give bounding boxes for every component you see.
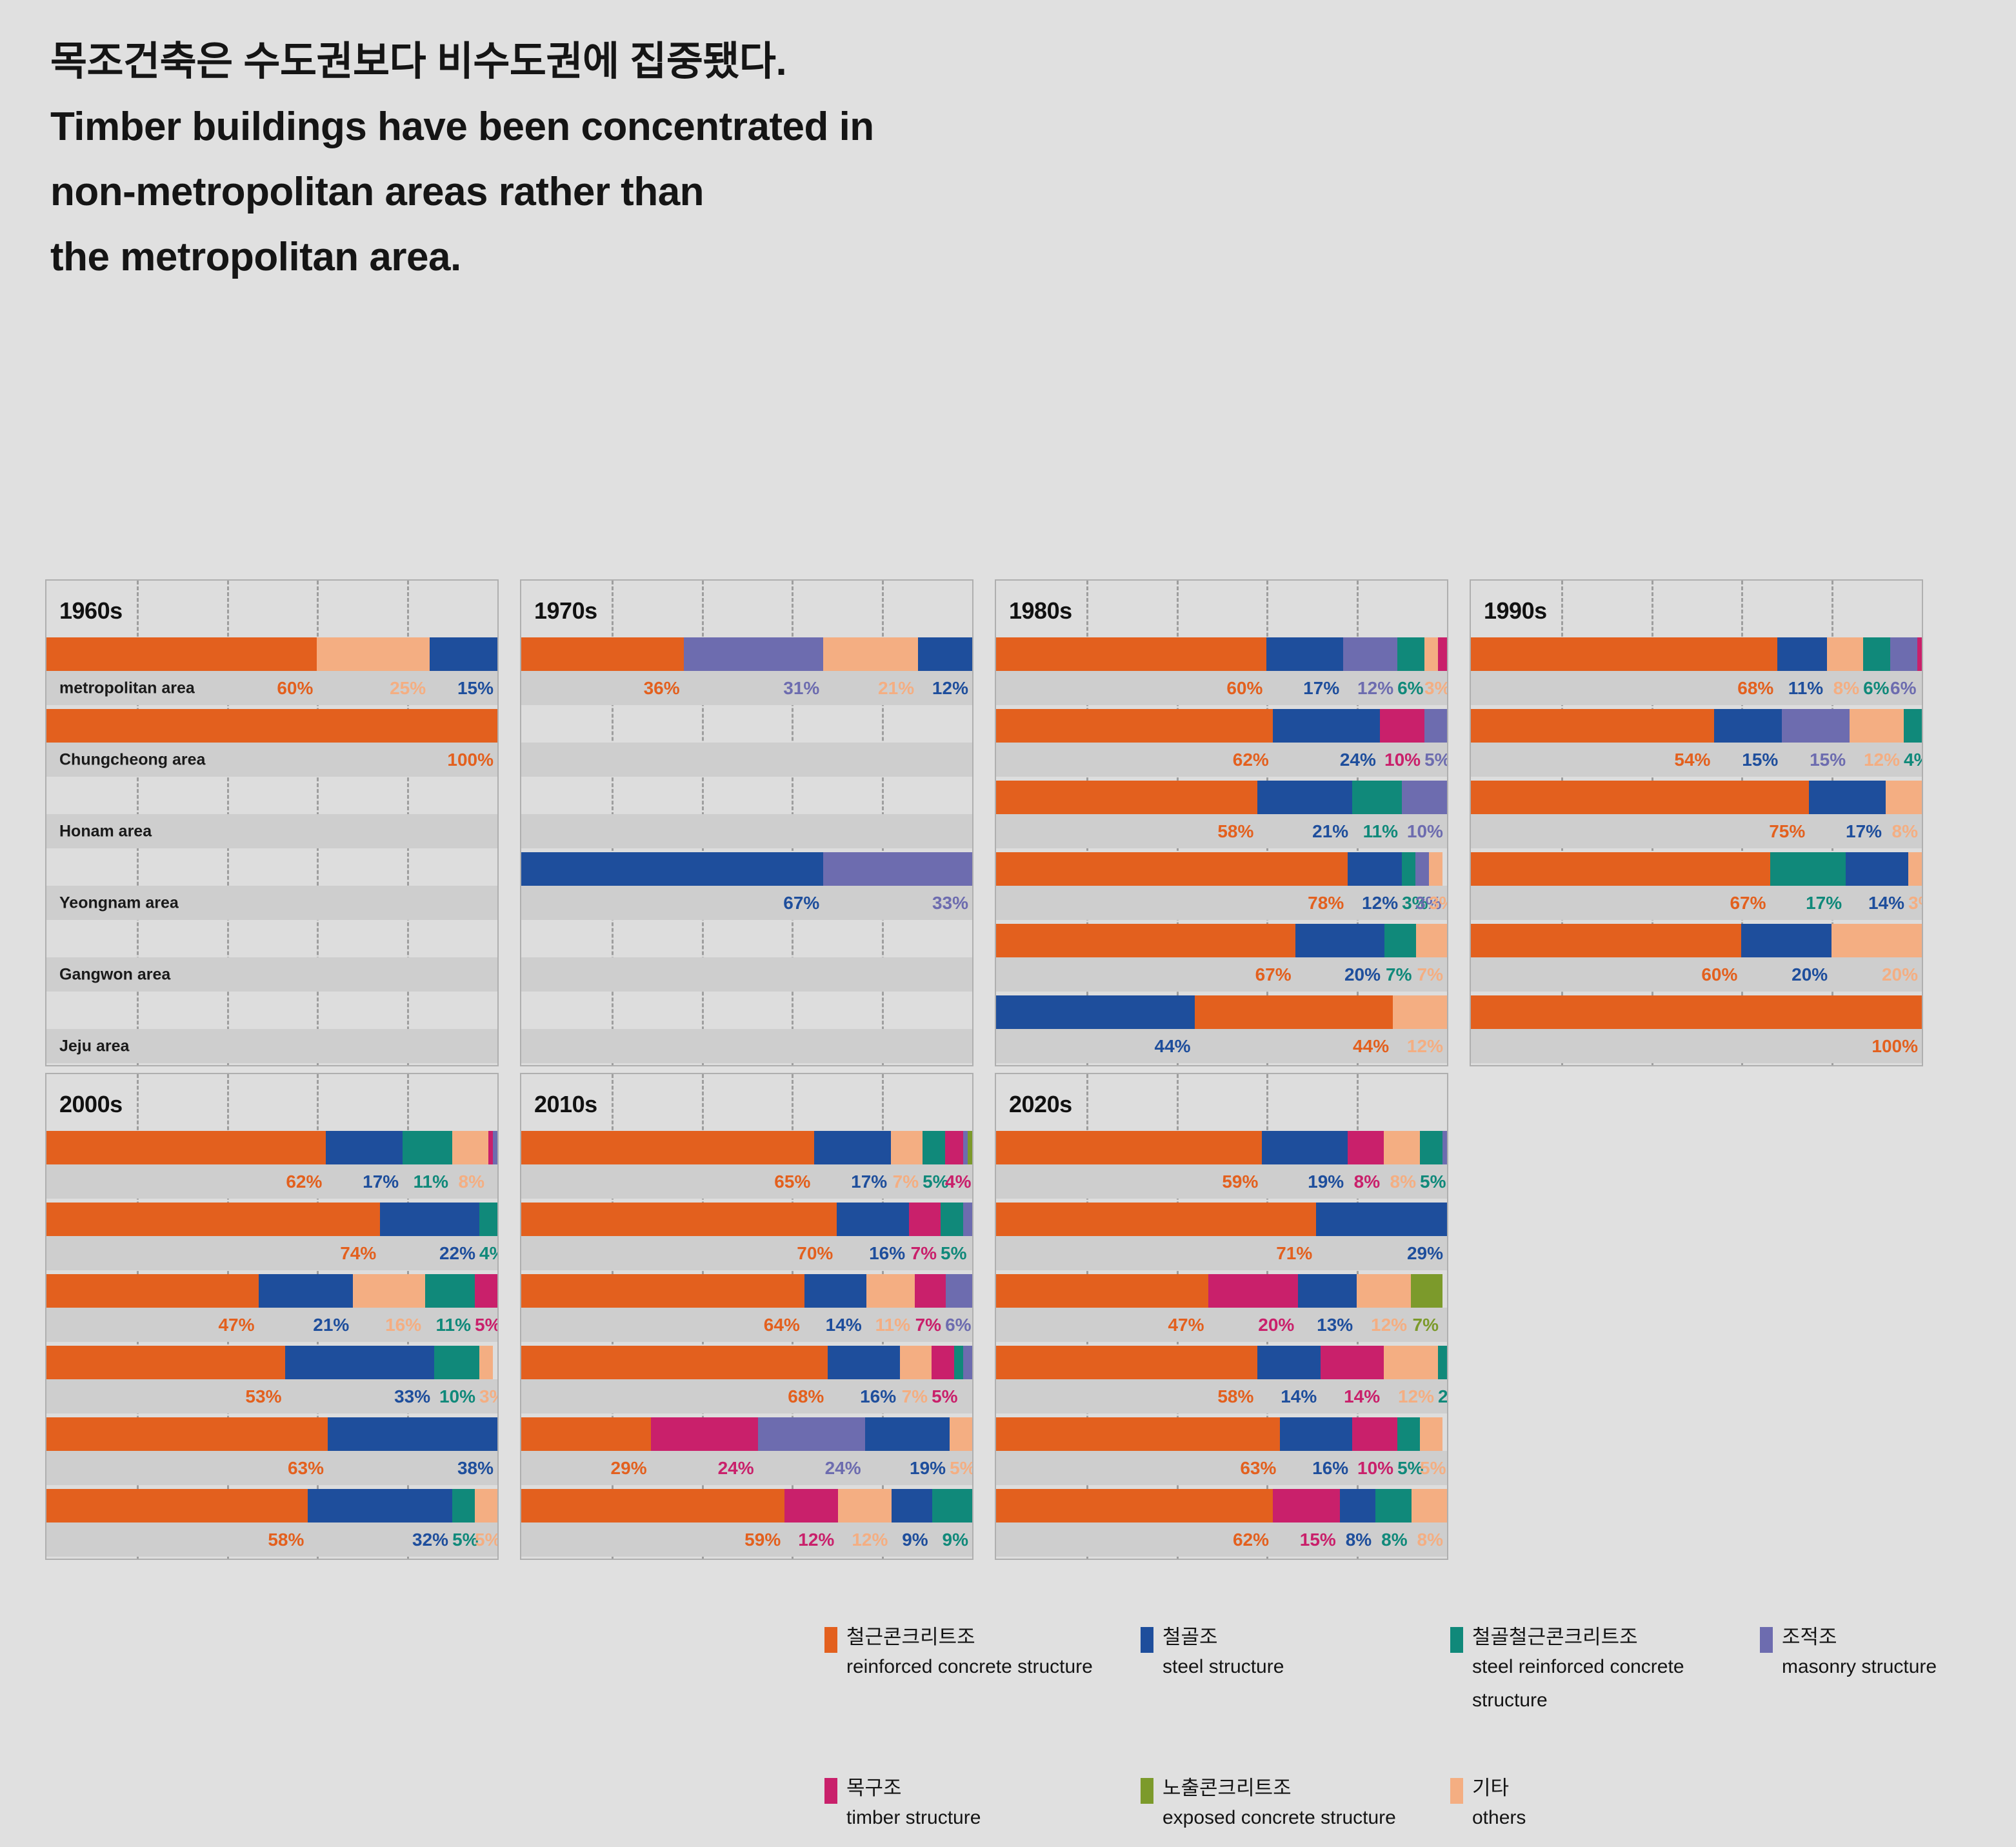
region-label-Jeju-area: Jeju area <box>59 1037 129 1055</box>
row-info: 63%16%10%5%5% <box>996 1451 1447 1485</box>
region-row: 58%14%14%12%2% <box>996 1346 1447 1413</box>
percent-label-steel-structure: 12% <box>918 678 972 699</box>
percent-label-reinforced-concrete-structure: 71% <box>996 1243 1316 1264</box>
percent-label-timber-structure: 7% <box>909 1243 941 1264</box>
legend-swatch-exposed-concrete <box>1141 1778 1153 1804</box>
row-info: 71%29% <box>996 1236 1447 1270</box>
row-info: 29%24%24%19%5% <box>521 1451 972 1485</box>
bar-segment-others <box>1412 1489 1447 1523</box>
percent-label-steel-reinforced-concrete-structure: 5% <box>923 1172 945 1192</box>
percent-label-reinforced-concrete-structure: 67% <box>1471 893 1770 914</box>
region-label-Honam-area: Honam area <box>59 822 152 841</box>
bar-segment-reinforced-concrete-structure <box>521 1417 651 1451</box>
panel-rows: 36%31%21%12%67%33% <box>521 637 972 1065</box>
percent-strip: 44%44%12% <box>996 1029 1447 1063</box>
percent-label-reinforced-concrete-structure: 53% <box>46 1386 285 1407</box>
percent-label-steel-reinforced-concrete-structure: 4% <box>1904 750 1922 770</box>
percent-label-steel-structure: 33% <box>285 1386 434 1407</box>
bar-segment-reinforced-concrete-structure <box>1195 995 1393 1029</box>
bar-segment-masonry-structure <box>758 1417 865 1451</box>
percent-label-others: 12% <box>1384 1386 1438 1407</box>
bar-segment-reinforced-concrete-structure <box>521 1131 814 1164</box>
legend-swatch-masonry <box>1760 1627 1773 1653</box>
legend-item-others[interactable]: 기타others <box>1450 1775 1760 1835</box>
percent-strip: 100% <box>1471 1029 1922 1063</box>
page-title: 목조건축은 수도권보다 비수도권에 집중됐다. Timber buildings… <box>50 30 1663 290</box>
bar-segment-steel-reinforced-concrete-structure <box>1770 852 1846 886</box>
stacked-bar <box>521 1203 972 1236</box>
stacked-bar <box>46 1131 497 1164</box>
bar-segment-steel-reinforced-concrete-structure <box>1397 1417 1420 1451</box>
bar-segment-steel-reinforced-concrete-structure <box>479 1203 497 1236</box>
percent-label-others: 3% <box>1424 678 1438 699</box>
bar-segment-reinforced-concrete-structure <box>996 1346 1257 1379</box>
stacked-bar <box>46 995 497 1029</box>
decade-panel-1990s: 1990s68%11%8%6%6%54%15%15%12%4%75%17%8%6… <box>1470 579 1923 1066</box>
percent-label-others: 7% <box>900 1386 932 1407</box>
bar-segment-steel-reinforced-concrete-structure <box>1863 637 1890 671</box>
legend-label-en: steel reinforced concrete structure <box>1472 1650 1737 1717</box>
region-row: 64%14%11%7%6% <box>521 1274 972 1342</box>
bar-segment-others <box>838 1489 892 1523</box>
bar-segment-reinforced-concrete-structure <box>996 924 1295 957</box>
bar-segment-reinforced-concrete-structure <box>46 1131 326 1164</box>
stacked-bar <box>996 924 1447 957</box>
percent-label-steel-structure: 13% <box>1298 1315 1357 1335</box>
bar-segment-reinforced-concrete-structure <box>996 1131 1262 1164</box>
percent-label-steel-structure: 67% <box>521 893 823 914</box>
panel-rows: 59%19%8%8%5%71%29%47%20%13%12%7%58%14%14… <box>996 1131 1447 1559</box>
panel-title-2010s: 2010s <box>534 1091 597 1118</box>
percent-label-others: 12% <box>1850 750 1904 770</box>
percent-label-reinforced-concrete-structure: 47% <box>996 1315 1208 1335</box>
region-row: 36%31%21%12% <box>521 637 972 705</box>
bar-segment-steel-structure <box>1257 1346 1321 1379</box>
percent-label-timber-structure: 4% <box>945 1172 963 1192</box>
stacked-bar <box>521 1489 972 1523</box>
row-info: Honam area <box>46 814 497 848</box>
region-row: 100% <box>1471 995 1922 1063</box>
row-info: 60%17%12%6%3% <box>996 671 1447 705</box>
percent-strip: 78%12%3%3%3% <box>996 886 1447 920</box>
percent-label-masonry-structure: 10% <box>1402 821 1447 842</box>
bar-segment-reinforced-concrete-structure <box>46 1203 380 1236</box>
row-info: Yeongnam area <box>46 886 497 920</box>
stacked-bar <box>996 995 1447 1029</box>
legend-label-ko: 기타 <box>1472 1775 1526 1801</box>
panel-title-1960s: 1960s <box>59 597 123 624</box>
bar-segment-reinforced-concrete-structure <box>996 1417 1280 1451</box>
percent-label-steel-reinforced-concrete-structure: 10% <box>434 1386 479 1407</box>
percent-label-steel-reinforced-concrete-structure: 17% <box>1770 893 1846 914</box>
legend-item-timber-structure[interactable]: 목구조timber structure <box>824 1775 1141 1835</box>
stacked-bar <box>996 1346 1447 1379</box>
percent-label-reinforced-concrete-structure: 100% <box>1471 1036 1922 1057</box>
bar-segment-others <box>823 637 918 671</box>
bar-segment-masonry-structure <box>963 1203 972 1236</box>
legend-item-steel-reinforced-concrete-structure[interactable]: 철골철근콘크리트조steel reinforced concrete struc… <box>1450 1624 1760 1717</box>
bar-segment-others <box>479 1346 493 1379</box>
percent-label-timber-structure: 5% <box>932 1386 954 1407</box>
stacked-bar <box>46 1203 497 1236</box>
stacked-bar <box>521 781 972 814</box>
percent-strip: 60%20%20% <box>1471 957 1922 992</box>
bar-segment-steel-structure <box>1348 852 1402 886</box>
stacked-bar <box>521 709 972 743</box>
percent-label-reinforced-concrete-structure: 62% <box>996 1530 1273 1550</box>
legend-label-ko: 목구조 <box>846 1775 981 1801</box>
percent-label-timber-structure: 7% <box>914 1315 945 1335</box>
percent-label-masonry-structure: 31% <box>684 678 824 699</box>
row-info: 65%17%7%5%4% <box>521 1164 972 1199</box>
region-row: 71%29% <box>996 1203 1447 1270</box>
stacked-bar <box>996 1274 1447 1308</box>
percent-strip: 70%16%7%5% <box>521 1236 972 1270</box>
bar-segment-reinforced-concrete-structure <box>996 1489 1273 1523</box>
row-info: 62%24%10%5% <box>996 743 1447 777</box>
percent-label-timber-structure: 20% <box>1208 1315 1299 1335</box>
percent-label-others: 12% <box>1357 1315 1411 1335</box>
bar-segment-timber-structure <box>915 1274 946 1308</box>
legend-swatch-steel <box>1141 1627 1153 1653</box>
region-row: Yeongnam area <box>46 852 497 920</box>
percent-label-steel-structure: 38% <box>328 1458 497 1479</box>
percent-strip: 60%17%12%6%3% <box>996 671 1447 705</box>
bar-segment-steel-structure <box>326 1131 403 1164</box>
percent-label-others: 12% <box>1393 1036 1447 1057</box>
stacked-bar <box>996 781 1447 814</box>
legend-label-ko: 노출콘크리트조 <box>1163 1775 1396 1801</box>
row-info <box>521 957 972 992</box>
decade-panel-2000s: 2000s62%17%11%8%74%22%4%47%21%16%11%5%53… <box>45 1073 499 1560</box>
percent-strip: 29%24%24%19%5% <box>521 1451 972 1485</box>
legend-item-reinforced-concrete-structure[interactable]: 철근콘크리트조reinforced concrete structure <box>824 1624 1141 1717</box>
bar-segment-steel-structure <box>918 637 972 671</box>
percent-label-steel-reinforced-concrete-structure: 11% <box>403 1172 452 1192</box>
legend-label-ko: 철골철근콘크리트조 <box>1472 1624 1737 1650</box>
percent-label-steel-reinforced-concrete-structure: 9% <box>932 1530 972 1550</box>
row-info: Jeju area <box>46 1029 497 1063</box>
percent-label-exposed-concrete-structure: 7% <box>1411 1315 1442 1335</box>
percent-strip: 75%17%8% <box>1471 814 1922 848</box>
bar-segment-reinforced-concrete-structure <box>46 709 497 743</box>
percent-strip: 59%12%12%9%9% <box>521 1523 972 1557</box>
bar-segment-steel-structure <box>521 852 823 886</box>
row-info: 67%17%14%3% <box>1471 886 1922 920</box>
title-korean: 목조건축은 수도권보다 비수도권에 집중됐다. <box>50 30 1663 94</box>
panel-title-2020s: 2020s <box>1009 1091 1072 1118</box>
region-row: 70%16%7%5% <box>521 1203 972 1270</box>
bar-segment-steel-reinforced-concrete-structure <box>425 1274 475 1308</box>
bar-segment-others <box>1393 995 1447 1029</box>
stacked-bar <box>46 709 497 743</box>
percent-label-masonry-structure: 33% <box>823 893 972 914</box>
percent-label-steel-structure: 16% <box>1280 1458 1352 1479</box>
legend-label-en: steel structure <box>1163 1650 1284 1684</box>
percent-label-timber-structure: 10% <box>1380 750 1424 770</box>
bar-segment-others <box>353 1274 425 1308</box>
bar-segment-reinforced-concrete-structure <box>46 637 317 671</box>
percent-label-steel-structure: 21% <box>1257 821 1352 842</box>
bar-segment-timber-structure <box>1208 1274 1299 1308</box>
stacked-bar <box>1471 709 1922 743</box>
bar-segment-timber-structure <box>1352 1417 1397 1451</box>
legend-item-steel-structure[interactable]: 철골조steel structure <box>1141 1624 1450 1717</box>
region-row <box>521 781 972 848</box>
row-info: 100% <box>1471 1029 1922 1063</box>
panel-rows: 60%17%12%6%3%62%24%10%5%58%21%11%10%78%1… <box>996 637 1447 1065</box>
stacked-bar <box>46 924 497 957</box>
percent-label-reinforced-concrete-structure: 44% <box>1195 1036 1393 1057</box>
percent-strip <box>521 1029 972 1063</box>
bar-segment-steel-reinforced-concrete-structure <box>932 1489 972 1523</box>
region-row: 65%17%7%5%4% <box>521 1131 972 1199</box>
percent-label-others: 8% <box>1827 678 1863 699</box>
legend-item-masonry-structure[interactable]: 조적조masonry structure <box>1760 1624 1960 1717</box>
percent-strip: 36%31%21%12% <box>521 671 972 705</box>
bar-segment-steel-structure <box>804 1274 866 1308</box>
region-row: 44%44%12% <box>996 995 1447 1063</box>
percent-strip <box>521 743 972 777</box>
percent-label-others: 12% <box>838 1530 892 1550</box>
stacked-bar <box>521 1274 972 1308</box>
panel-title-1980s: 1980s <box>1009 597 1072 624</box>
percent-label-reinforced-concrete-structure: 74% <box>46 1243 380 1264</box>
region-row: 63%38% <box>46 1417 497 1485</box>
bar-segment-timber-structure <box>1348 1131 1384 1164</box>
bar-segment-steel-reinforced-concrete-structure <box>1397 637 1424 671</box>
percent-label-reinforced-concrete-structure: 64% <box>521 1315 804 1335</box>
percent-label-steel-structure: 14% <box>804 1315 866 1335</box>
percent-label-steel-reinforced-concrete-structure: 7% <box>1384 964 1415 985</box>
bar-segment-steel-structure <box>430 637 497 671</box>
row-info: 47%20%13%12%7% <box>996 1308 1447 1342</box>
region-row <box>521 995 972 1063</box>
percent-label-masonry-structure: 6% <box>945 1315 972 1335</box>
percent-label-reinforced-concrete-structure: 58% <box>46 1530 308 1550</box>
bar-segment-reinforced-concrete-structure <box>996 709 1273 743</box>
panel-row-top: 1960s60%25%15%metropolitan area100%Chung… <box>45 579 1981 1066</box>
bar-segment-reinforced-concrete-structure <box>996 1274 1208 1308</box>
panel-title-2000s: 2000s <box>59 1091 123 1118</box>
percent-label-masonry-structure: 6% <box>1890 678 1917 699</box>
bar-segment-others <box>1886 781 1922 814</box>
percent-label-masonry-structure: 3% <box>1415 893 1429 914</box>
percent-label-others: 20% <box>1831 964 1922 985</box>
percent-label-others: 25% <box>317 678 430 699</box>
stacked-bar <box>1471 852 1922 886</box>
bar-segment-reinforced-concrete-structure <box>1471 637 1777 671</box>
bar-segment-steel-reinforced-concrete-structure <box>1375 1489 1411 1523</box>
bar-segment-timber-structure <box>945 1131 963 1164</box>
stacked-bar <box>996 1489 1447 1523</box>
percent-label-others: 5% <box>1420 1458 1442 1479</box>
percent-strip: 58%14%14%12%2% <box>996 1379 1447 1413</box>
region-row: 67%17%14%3% <box>1471 852 1922 920</box>
row-info: 62%17%11%8% <box>46 1164 497 1199</box>
bar-segment-reinforced-concrete-structure <box>46 1346 285 1379</box>
bar-segment-timber-structure <box>1917 637 1922 671</box>
region-label-Yeongnam-area: Yeongnam area <box>59 894 179 912</box>
bar-segment-others <box>891 1131 923 1164</box>
percent-label-reinforced-concrete-structure: 59% <box>996 1172 1262 1192</box>
bar-segment-others <box>1429 852 1442 886</box>
panel-row-bottom: 2000s62%17%11%8%74%22%4%47%21%16%11%5%53… <box>45 1073 1981 1560</box>
region-row <box>521 709 972 777</box>
percent-label-others: 7% <box>891 1172 923 1192</box>
bar-segment-steel-reinforced-concrete-structure <box>1438 1346 1447 1379</box>
row-info: 54%15%15%12%4% <box>1471 743 1922 777</box>
percent-label-steel-reinforced-concrete-structure: 11% <box>425 1315 475 1335</box>
legend-item-exposed-concrete-structure[interactable]: 노출콘크리트조exposed concrete structure <box>1141 1775 1450 1835</box>
legend-swatch-others <box>1450 1778 1463 1804</box>
bar-segment-steel-reinforced-concrete-structure <box>1352 781 1402 814</box>
percent-strip: 47%21%16%11%5% <box>46 1308 497 1342</box>
percent-label-steel-reinforced-concrete-structure: 3% <box>1402 893 1415 914</box>
percent-strip: 54%15%15%12%4% <box>1471 743 1922 777</box>
legend-text: 철근콘크리트조reinforced concrete structure <box>846 1624 1093 1684</box>
bar-segment-steel-structure <box>865 1417 950 1451</box>
percent-label-steel-structure: 17% <box>326 1172 403 1192</box>
row-info <box>521 743 972 777</box>
bar-segment-others <box>1384 1131 1420 1164</box>
percent-label-timber-structure: 14% <box>1321 1386 1384 1407</box>
stacked-bar <box>46 852 497 886</box>
percent-label-steel-reinforced-concrete-structure: 5% <box>1420 1172 1442 1192</box>
legend-text: 목구조timber structure <box>846 1775 981 1835</box>
percent-label-steel-structure: 17% <box>1266 678 1343 699</box>
bar-segment-others <box>1908 852 1922 886</box>
percent-label-others: 8% <box>1384 1172 1420 1192</box>
bar-segment-steel-structure <box>1298 1274 1357 1308</box>
bar-segment-masonry-structure <box>963 1131 968 1164</box>
legend-label-ko: 조적조 <box>1782 1624 1937 1650</box>
row-info: 74%22%4% <box>46 1236 497 1270</box>
region-label-Chungcheong-area: Chungcheong area <box>59 750 205 769</box>
percent-label-steel-structure: 15% <box>1714 750 1782 770</box>
percent-strip: 62%15%8%8%8% <box>996 1523 1447 1557</box>
stacked-bar <box>521 1346 972 1379</box>
bar-segment-reinforced-concrete-structure <box>521 1489 784 1523</box>
row-info: 44%44%12% <box>996 1029 1447 1063</box>
legend-label-en: timber structure <box>846 1801 981 1835</box>
row-info: 63%38% <box>46 1451 497 1485</box>
percent-label-reinforced-concrete-structure: 47% <box>46 1315 259 1335</box>
title-english-line-2: non-metropolitan areas rather than <box>50 159 1663 225</box>
row-info: 36%31%21%12% <box>521 671 972 705</box>
percent-label-steel-reinforced-concrete-structure: 2% <box>1438 1386 1447 1407</box>
bar-segment-timber-structure <box>1438 637 1447 671</box>
decade-panel-2010s: 2010s65%17%7%5%4%70%16%7%5%64%14%11%7%6%… <box>520 1073 973 1560</box>
bar-segment-steel-structure <box>996 995 1195 1029</box>
percent-label-steel-reinforced-concrete-structure: 6% <box>1863 678 1890 699</box>
stacked-bar <box>1471 924 1922 957</box>
percent-label-reinforced-concrete-structure: 60% <box>1471 964 1741 985</box>
bar-segment-steel-structure <box>1714 709 1782 743</box>
percent-label-reinforced-concrete-structure: 58% <box>996 821 1257 842</box>
region-row: 60%25%15%metropolitan area <box>46 637 497 705</box>
bar-segment-masonry-structure <box>1424 709 1447 743</box>
percent-label-reinforced-concrete-structure: 68% <box>521 1386 828 1407</box>
percent-label-others: 3% <box>479 1386 493 1407</box>
legend-swatch-steel-reinforced-concrete <box>1450 1627 1463 1653</box>
percent-label-reinforced-concrete-structure: 29% <box>521 1458 651 1479</box>
percent-label-masonry-structure: 5% <box>1424 750 1447 770</box>
bar-segment-steel-structure <box>1777 637 1827 671</box>
decade-panel-1960s: 1960s60%25%15%metropolitan area100%Chung… <box>45 579 499 1066</box>
bar-segment-steel-structure <box>380 1203 479 1236</box>
stacked-bar <box>521 995 972 1029</box>
region-row: 63%16%10%5%5% <box>996 1417 1447 1485</box>
percent-label-others: 11% <box>866 1315 914 1335</box>
bar-segment-reinforced-concrete-structure <box>1471 852 1770 886</box>
region-row: 100%Chungcheong area <box>46 709 497 777</box>
bar-segment-masonry-structure <box>1442 1131 1447 1164</box>
row-info: 58%21%11%10% <box>996 814 1447 848</box>
percent-label-reinforced-concrete-structure: 60% <box>996 678 1266 699</box>
legend-label-ko: 철골조 <box>1163 1624 1284 1650</box>
row-info <box>521 814 972 848</box>
row-info: 68%11%8%6%6% <box>1471 671 1922 705</box>
stacked-bar <box>996 709 1447 743</box>
bar-segment-masonry-structure <box>1890 637 1917 671</box>
row-info: 64%14%11%7%6% <box>521 1308 972 1342</box>
percent-strip: 58%21%11%10% <box>996 814 1447 848</box>
bar-segment-reinforced-concrete-structure <box>521 1203 837 1236</box>
bar-segment-steel-structure <box>837 1203 909 1236</box>
legend-label-en: exposed concrete structure <box>1163 1801 1396 1835</box>
bar-segment-others <box>900 1346 932 1379</box>
bar-segment-steel-structure <box>1266 637 1343 671</box>
row-info: 53%33%10%3% <box>46 1379 497 1413</box>
bar-segment-reinforced-concrete-structure <box>46 1274 259 1308</box>
percent-label-steel-reinforced-concrete-structure: 4% <box>479 1243 497 1264</box>
decade-panel-1980s: 1980s60%17%12%6%3%62%24%10%5%58%21%11%10… <box>995 579 1448 1066</box>
percent-label-others: 7% <box>1416 964 1447 985</box>
legend-swatch-timber <box>824 1778 837 1804</box>
legend: 철근콘크리트조reinforced concrete structure철골조s… <box>824 1624 1960 1835</box>
bar-segment-masonry-structure <box>963 1346 972 1379</box>
bar-segment-steel-structure <box>285 1346 434 1379</box>
legend-label-en: reinforced concrete structure <box>846 1650 1093 1684</box>
percent-label-steel-reinforced-concrete-structure: 11% <box>1352 821 1402 842</box>
bar-segment-steel-structure <box>259 1274 354 1308</box>
percent-label-steel-structure: 17% <box>1809 821 1886 842</box>
bar-segment-timber-structure <box>909 1203 941 1236</box>
percent-strip: 67%17%14%3% <box>1471 886 1922 920</box>
region-row: 47%21%16%11%5% <box>46 1274 497 1342</box>
legend-text: 기타others <box>1472 1775 1526 1835</box>
bar-segment-steel-structure <box>1316 1203 1447 1236</box>
row-info: 67%20%7%7% <box>996 957 1447 992</box>
percent-label-masonry-structure: 24% <box>758 1458 865 1479</box>
percent-label-others: 5% <box>950 1458 972 1479</box>
bar-segment-reinforced-concrete-structure <box>521 1274 804 1308</box>
percent-strip: 63%16%10%5%5% <box>996 1451 1447 1485</box>
percent-label-steel-structure: 8% <box>1340 1530 1375 1550</box>
bar-segment-steel-structure <box>308 1489 452 1523</box>
percent-label-timber-structure: 10% <box>1352 1458 1397 1479</box>
legend-text: 조적조masonry structure <box>1782 1624 1937 1684</box>
stacked-bar <box>521 852 972 886</box>
percent-strip: 74%22%4% <box>46 1236 497 1270</box>
stacked-bar <box>46 1274 497 1308</box>
percent-label-timber-structure: 8% <box>1348 1172 1384 1192</box>
bar-segment-others <box>1416 924 1447 957</box>
title-english-line-3: the metropolitan area. <box>50 225 1663 290</box>
percent-label-steel-structure: 20% <box>1741 964 1831 985</box>
percent-label-steel-reinforced-concrete-structure: 5% <box>941 1243 963 1264</box>
